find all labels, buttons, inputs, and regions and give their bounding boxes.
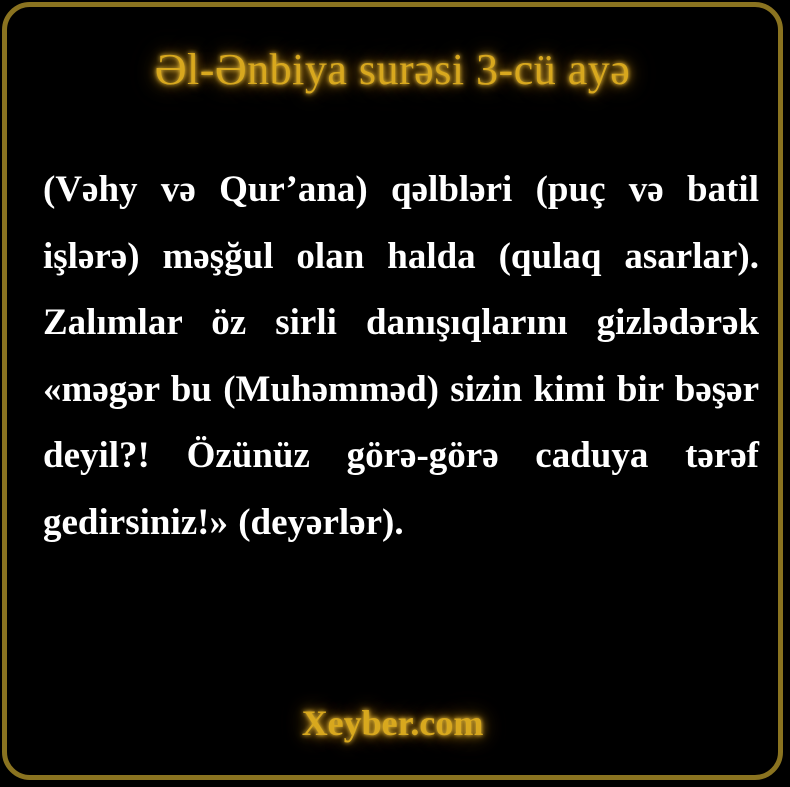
verse-card: Əl-Ənbiya surəsi 3-cü ayə (Vəhy və Qur’a… <box>2 2 783 780</box>
page-title: Əl-Ənbiya surəsi 3-cü ayə <box>7 43 778 97</box>
verse-body-text: (Vəhy və Qur’ana) qəlbləri (puç və batil… <box>43 157 759 556</box>
footer-site-name: Xeyber.com <box>7 701 778 745</box>
